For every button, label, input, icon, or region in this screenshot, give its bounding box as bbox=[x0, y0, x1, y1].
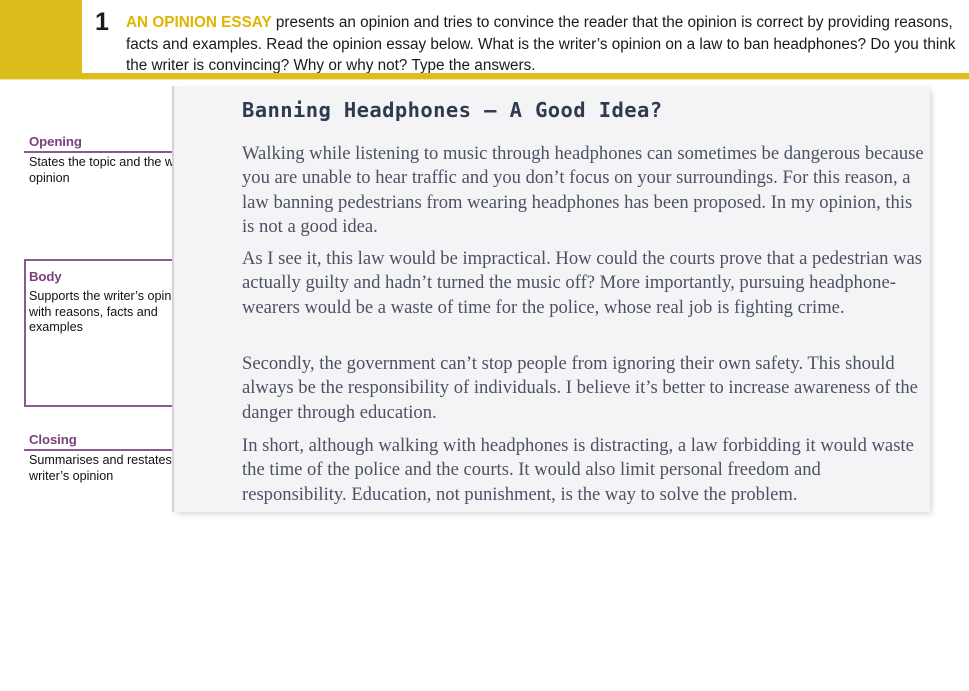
essay-title: Banning Headphones – A Good Idea? bbox=[242, 98, 663, 122]
essay-paragraph-body-1: As I see it, this law would be impractic… bbox=[242, 247, 924, 320]
header-divider-rule-thin bbox=[0, 79, 969, 80]
annotation-heading-body: Body bbox=[29, 269, 62, 284]
exercise-number: 1 bbox=[95, 8, 108, 37]
instructions-lead-term: AN OPINION ESSAY bbox=[126, 14, 272, 31]
exercise-header: 1 AN OPINION ESSAY presents an opinion a… bbox=[0, 0, 969, 73]
essay-paragraph-body-2: Secondly, the government can’t stop peop… bbox=[242, 352, 924, 425]
essay-paragraph-opening: Walking while listening to music through… bbox=[242, 142, 924, 240]
essay-paragraph-closing: In short, although walking with headphon… bbox=[242, 434, 924, 507]
annotation-heading-opening: Opening bbox=[29, 134, 82, 149]
essay-panel: Banning Headphones – A Good Idea? Walkin… bbox=[172, 86, 930, 512]
annotation-heading-closing: Closing bbox=[29, 432, 77, 447]
annotation-bracket-line-body bbox=[24, 259, 26, 407]
header-accent-block bbox=[0, 0, 82, 73]
exercise-instructions: AN OPINION ESSAY presents an opinion and… bbox=[126, 12, 958, 77]
